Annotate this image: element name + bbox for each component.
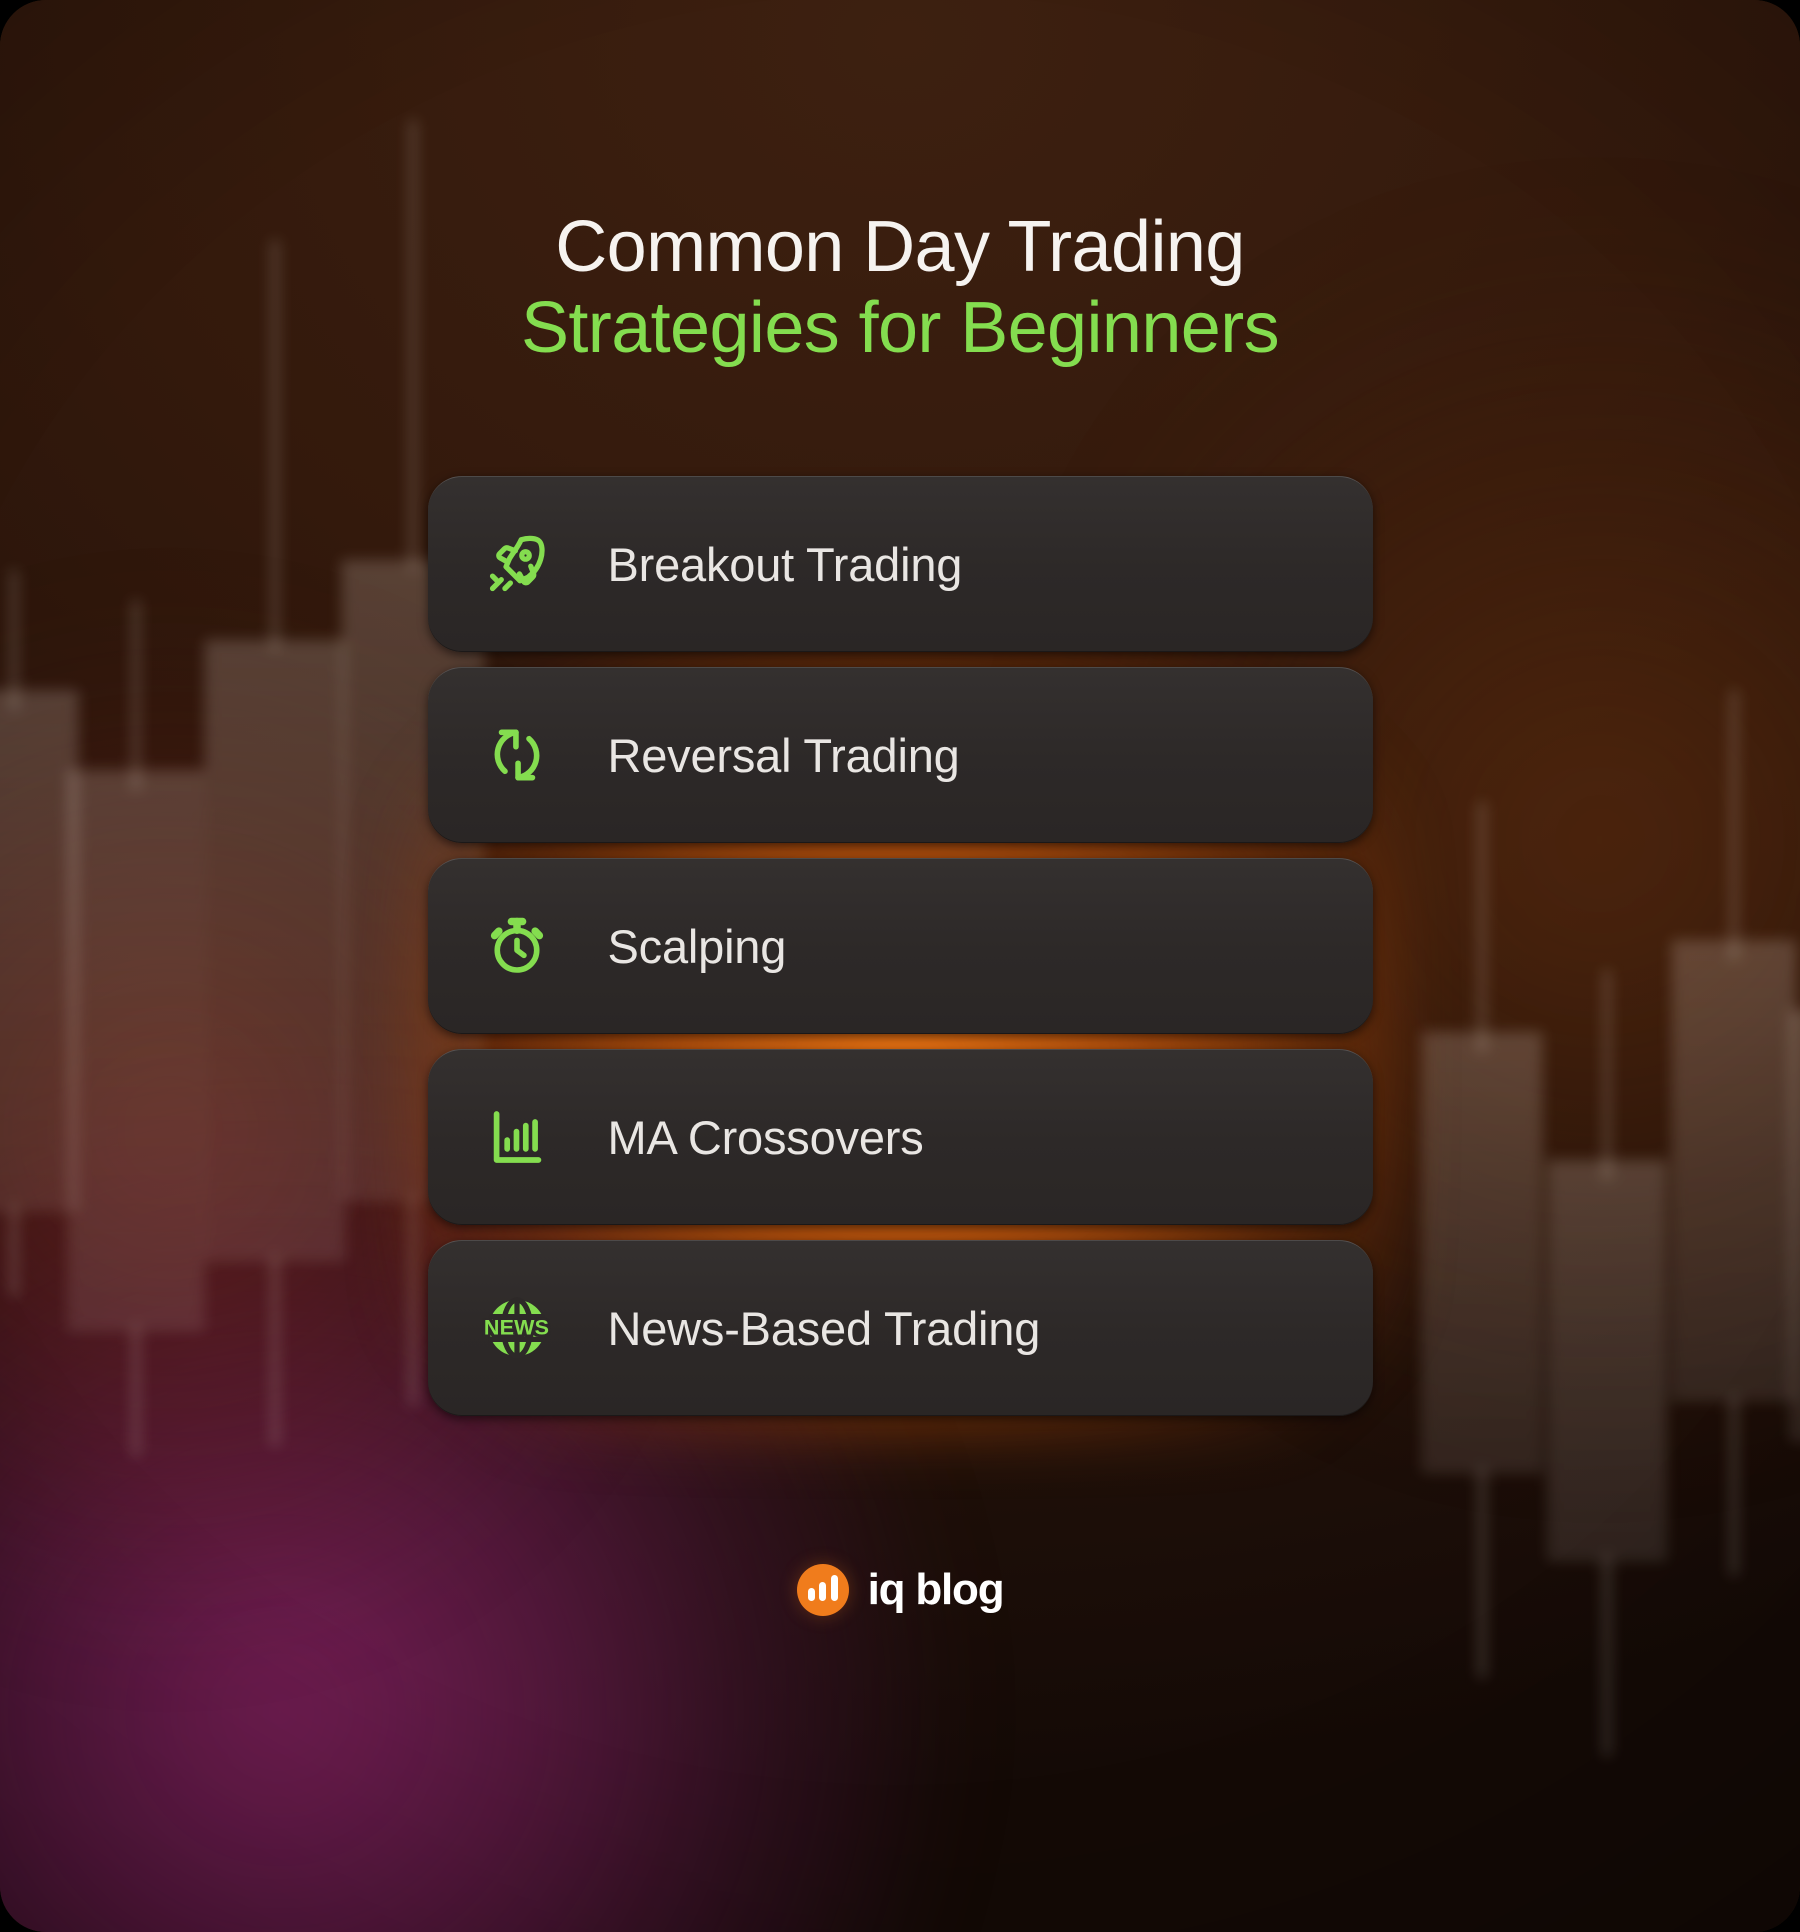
strategy-card-label: News-Based Trading [608,1301,1041,1356]
poster-content: Common Day Trading Strategies for Beginn… [0,0,1800,1932]
strategy-card-list: Breakout Trading Reversal Trading [428,476,1373,1416]
strategy-card-scalping[interactable]: Scalping [428,858,1373,1034]
strategy-card-label: Scalping [608,919,787,974]
bar-chart-icon [480,1100,554,1174]
refresh-cycle-icon [480,718,554,792]
strategy-card-label: MA Crossovers [608,1110,924,1165]
news-globe-icon: NEWS [480,1291,554,1365]
page-title: Common Day Trading Strategies for Beginn… [521,210,1279,366]
strategy-card-label: Breakout Trading [608,537,963,592]
news-label: NEWS [471,1318,563,1340]
poster-canvas: Common Day Trading Strategies for Beginn… [0,0,1800,1932]
brand-name: iq blog [868,1565,1004,1615]
strategy-card-reversal-trading[interactable]: Reversal Trading [428,667,1373,843]
strategy-card-ma-crossovers[interactable]: MA Crossovers [428,1049,1373,1225]
bar-chart-circle-icon [797,1564,849,1616]
strategy-card-breakout-trading[interactable]: Breakout Trading [428,476,1373,652]
strategy-card-news-based-trading[interactable]: NEWS News-Based Trading [428,1240,1373,1416]
title-line-accent: Strategies for Beginners [521,291,1279,366]
strategy-card-label: Reversal Trading [608,728,960,783]
title-line-primary: Common Day Trading [521,210,1279,285]
stopwatch-icon [480,909,554,983]
rocket-icon [480,527,554,601]
brand-footer[interactable]: iq blog [797,1564,1004,1616]
